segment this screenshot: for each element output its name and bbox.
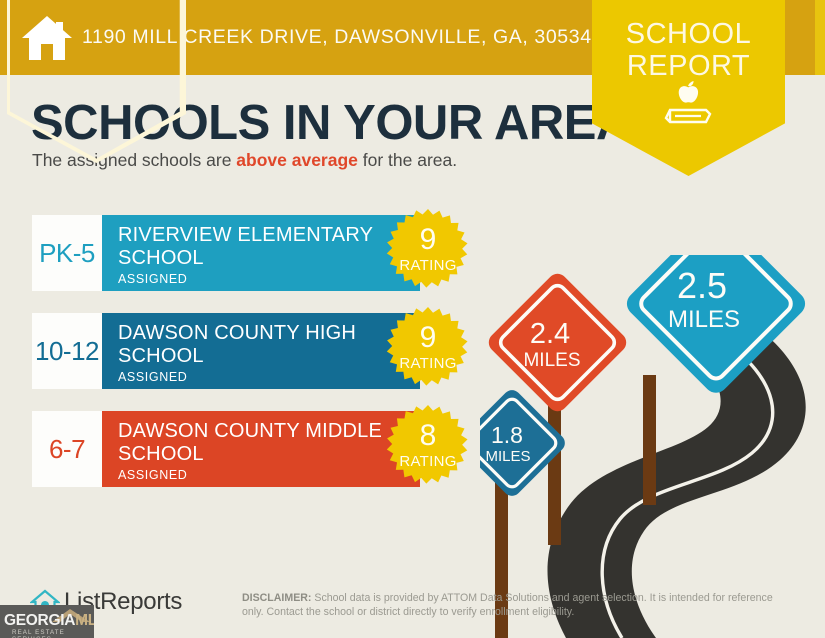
- rating-badge: 9 RATING: [384, 209, 472, 297]
- school-report-banner-title: SCHOOL REPORT: [592, 18, 785, 82]
- sign-distance-value: 2.5: [677, 265, 727, 306]
- school-status: ASSIGNED: [118, 370, 420, 384]
- rating-value: 9: [384, 225, 472, 255]
- subtitle-part-1: The assigned schools are: [32, 150, 236, 170]
- sign-distance-value: 2.4: [530, 318, 570, 350]
- road-with-signs: 2.5 MILES 2.4 MILES 1.8 MILES: [480, 255, 825, 638]
- school-info-bar: RIVERVIEW ELEMENTARY SCHOOL ASSIGNED: [102, 215, 420, 291]
- school-list: PK-5 RIVERVIEW ELEMENTARY SCHOOL ASSIGNE…: [32, 215, 452, 509]
- school-report-infographic: 1190 MILL CREEK DRIVE, DAWSONVILLE, GA, …: [0, 0, 825, 638]
- rating-badge: 8 RATING: [384, 405, 472, 493]
- property-address: 1190 MILL CREEK DRIVE, DAWSONVILLE, GA, …: [82, 26, 592, 49]
- mls-tagline: REAL ESTATE SERVICES: [12, 629, 94, 638]
- header-content: 1190 MILL CREEK DRIVE, DAWSONVILLE, GA, …: [0, 0, 592, 75]
- mls-name-part-2: MLS: [75, 612, 94, 629]
- mls-name: GEORGIAMLS: [4, 612, 94, 630]
- school-info-bar: DAWSON COUNTY MIDDLE SCHOOL ASSIGNED: [102, 411, 420, 487]
- school-row[interactable]: 10-12 DAWSON COUNTY HIGH SCHOOL ASSIGNED…: [32, 313, 420, 389]
- disclaimer-body: School data is provided by ATTOM Data So…: [242, 592, 773, 618]
- rating-badge: 9 RATING: [384, 307, 472, 395]
- grade-range-badge: PK-5: [32, 215, 102, 291]
- disclaimer-label: DISCLAIMER:: [242, 592, 311, 604]
- school-name: DAWSON COUNTY MIDDLE SCHOOL: [118, 420, 420, 466]
- sign-distance-unit: MILES: [485, 448, 530, 465]
- header-accent-strip: [815, 0, 825, 75]
- rating-value: 8: [384, 421, 472, 451]
- grade-range-label: PK-5: [39, 238, 95, 269]
- school-row[interactable]: 6-7 DAWSON COUNTY MIDDLE SCHOOL ASSIGNED…: [32, 411, 420, 487]
- rating-value: 9: [384, 323, 472, 353]
- grade-range-badge: 6-7: [32, 411, 102, 487]
- sign-post: [643, 375, 656, 505]
- distance-illustration: 2.5 MILES 2.4 MILES 1.8 MILES: [480, 255, 825, 638]
- school-info-bar: DAWSON COUNTY HIGH SCHOOL ASSIGNED: [102, 313, 420, 389]
- rating-label: RATING: [384, 355, 472, 372]
- school-row[interactable]: PK-5 RIVERVIEW ELEMENTARY SCHOOL ASSIGNE…: [32, 215, 420, 291]
- apple-on-book-icon: [655, 80, 721, 128]
- school-status: ASSIGNED: [118, 468, 420, 482]
- banner-line-1: SCHOOL: [626, 18, 751, 50]
- mls-name-part-1: GEORGIA: [4, 612, 75, 629]
- grade-range-label: 6-7: [49, 434, 85, 465]
- sign-distance-value: 1.8: [491, 422, 523, 448]
- banner-line-2: REPORT: [592, 50, 785, 82]
- sign-distance-unit: MILES: [523, 350, 580, 371]
- school-name: DAWSON COUNTY HIGH SCHOOL: [118, 322, 420, 368]
- page-title: SCHOOLS IN YOUR AREA: [31, 95, 631, 151]
- sign-distance-unit: MILES: [668, 306, 740, 333]
- school-name: RIVERVIEW ELEMENTARY SCHOOL: [118, 224, 420, 270]
- grade-range-badge: 10-12: [32, 313, 102, 389]
- home-icon: [20, 12, 74, 64]
- disclaimer-text: DISCLAIMER: School data is provided by A…: [242, 592, 787, 619]
- georgia-mls-badge: GEORGIAMLS REAL ESTATE SERVICES: [0, 605, 94, 638]
- subtitle-highlight: above average: [236, 150, 358, 170]
- school-status: ASSIGNED: [118, 272, 420, 286]
- grade-range-label: 10-12: [35, 336, 99, 367]
- rating-label: RATING: [384, 257, 472, 274]
- subtitle-part-2: for the area.: [358, 150, 457, 170]
- rating-label: RATING: [384, 453, 472, 470]
